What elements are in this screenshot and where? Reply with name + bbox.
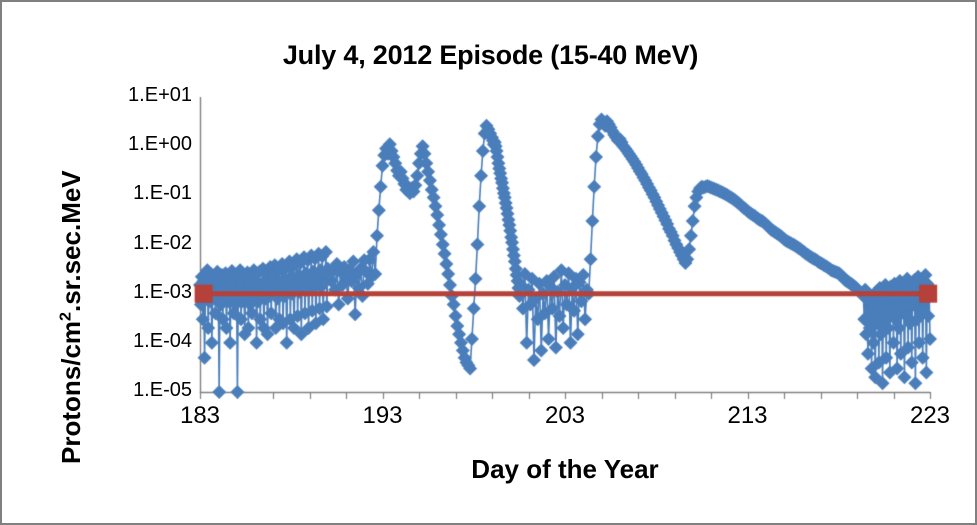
plot-area: [2, 2, 977, 525]
x-axis-title: Day of the Year: [200, 454, 930, 485]
chart-figure: July 4, 2012 Episode (15-40 MeV) Protons…: [0, 0, 977, 525]
